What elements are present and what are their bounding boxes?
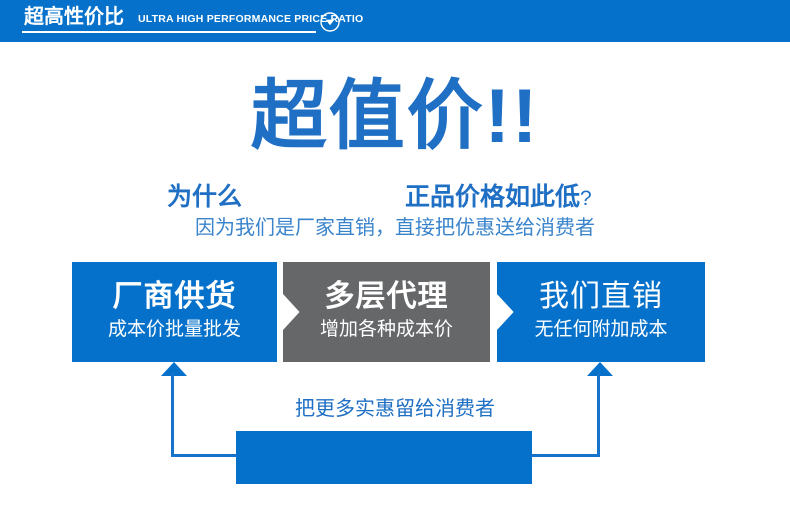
flow-box-title: 多层代理 xyxy=(283,280,490,314)
question-mark: ? xyxy=(580,187,592,210)
bottom-blue-block xyxy=(236,431,532,484)
flow-boxes: 厂商供货 成本价批量批发 多层代理 增加各种成本价 我们直销 无任何附加成本 xyxy=(0,262,790,362)
bottom-caption: 把更多实惠留给消费者 xyxy=(0,396,790,422)
page-headline: 超值价!! xyxy=(0,74,790,160)
flow-box-title: 我们直销 xyxy=(497,280,705,314)
arrow-up-icon-left xyxy=(161,362,187,376)
flow-box-multi-level-agency[interactable]: 多层代理 增加各种成本价 xyxy=(283,262,490,362)
header-title-chinese: 超高性价比 xyxy=(24,6,124,28)
header-bar: 超高性价比 ULTRA HIGH PERFORMANCE PRICE RATIO xyxy=(0,0,790,42)
chevron-down-circle-icon[interactable] xyxy=(320,12,340,32)
question-price-text: 正品价格如此低 xyxy=(405,183,580,211)
answer-line: 因为我们是厂家直销，直接把优惠送给消费者 xyxy=(0,215,790,241)
question-row: 为什么 正品价格如此低? xyxy=(0,182,790,212)
header-underline xyxy=(22,31,316,33)
question-why: 为什么 xyxy=(167,182,242,212)
flow-box-subtitle: 成本价批量批发 xyxy=(72,318,277,342)
header-title-group: 超高性价比 ULTRA HIGH PERFORMANCE PRICE RATIO xyxy=(22,0,352,42)
flow-box-our-direct-sales[interactable]: 我们直销 无任何附加成本 xyxy=(497,262,705,362)
flow-box-subtitle: 无任何附加成本 xyxy=(497,318,705,342)
flow-box-title: 厂商供货 xyxy=(72,280,277,314)
flow-box-subtitle: 增加各种成本价 xyxy=(283,318,490,342)
arrow-up-icon-right xyxy=(587,362,613,376)
flow-box-manufacturer-supply[interactable]: 厂商供货 成本价批量批发 xyxy=(72,262,277,362)
question-price: 正品价格如此低? xyxy=(405,182,592,214)
